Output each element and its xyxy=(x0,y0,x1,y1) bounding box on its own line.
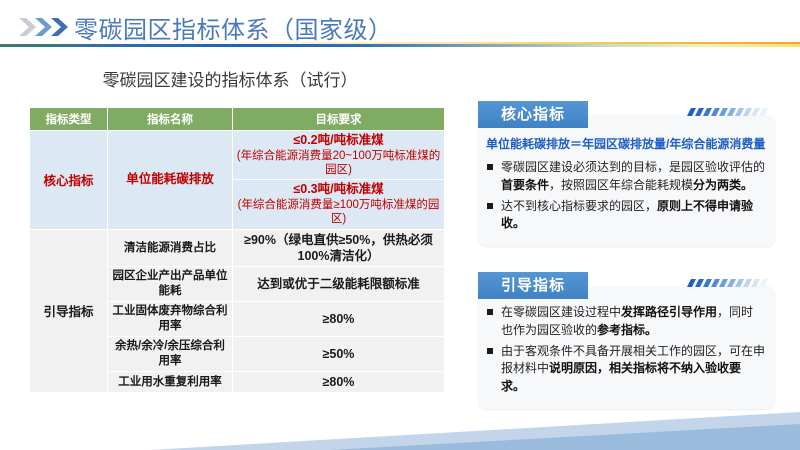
diagonal-ribbon-decoration xyxy=(0,410,800,450)
table-row: 核心指标单位能耗碳排放≤0.2吨/吨标准煤(年综合能源消费量20~100万吨标准… xyxy=(30,131,445,180)
cell-indicator-name: 工业用水重复利用率 xyxy=(108,371,233,392)
table-caption: 零碳园区建设的指标体系（试行） xyxy=(0,66,460,91)
cell-target-requirement: ≥90%（绿电直供≥50%，供热必须100%清洁化） xyxy=(233,229,445,267)
cell-target-requirement: ≥50% xyxy=(233,337,445,372)
cell-indicator-type: 引导指标 xyxy=(30,229,108,392)
header-divider xyxy=(0,40,800,48)
indicator-table: 指标类型 指标名称 目标要求 核心指标单位能耗碳排放≤0.2吨/吨标准煤(年综合… xyxy=(29,107,445,393)
cell-indicator-name: 园区企业产出产品单位能耗 xyxy=(108,267,233,302)
table-row: 引导指标清洁能源消费占比≥90%（绿电直供≥50%，供热必须100%清洁化） xyxy=(30,229,445,267)
cell-target-requirement: ≤0.2吨/吨标准煤(年综合能源消费量20~100万吨标准煤的园区) xyxy=(233,131,445,180)
bullet-item: 由于客观条件不具备开展相关工作的园区，可在申报材料中说明原因，相关指标将不纳入验… xyxy=(486,343,765,396)
double-chevron-right-icon xyxy=(19,16,73,38)
slanted-dashes-decoration xyxy=(685,104,769,113)
cell-target-requirement: ≤0.3吨/吨标准煤(年综合能源消费量≥100万吨标准煤的园区) xyxy=(233,180,445,229)
info-box-core-tab-label: 核心指标 xyxy=(478,101,588,128)
bullet-item: 达不到核心指标要求的园区，原则上不得申请验收。 xyxy=(486,198,765,234)
column-header-requirement: 目标要求 xyxy=(233,108,445,131)
cell-indicator-type: 核心指标 xyxy=(30,131,108,230)
cell-indicator-name: 单位能耗碳排放 xyxy=(108,131,233,230)
info-box-guidance-body: 在零碳园区建设过程中发挥路径引导作用，同时也作为园区验收的参考指标。由于客观条件… xyxy=(478,286,775,409)
table-body: 核心指标单位能耗碳排放≤0.2吨/吨标准煤(年综合能源消费量20~100万吨标准… xyxy=(30,131,445,393)
indicator-table-wrapper: 指标类型 指标名称 目标要求 核心指标单位能耗碳排放≤0.2吨/吨标准煤(年综合… xyxy=(29,107,444,393)
bullet-item: 零碳园区建设必须达到的目标，是园区验收评估的首要条件，按照园区年综合能耗规模分为… xyxy=(486,159,765,195)
guidance-bullet-list: 在零碳园区建设过程中发挥路径引导作用，同时也作为园区验收的参考指标。由于客观条件… xyxy=(486,304,765,396)
info-box-core-body: 单位能耗碳排放＝年园区碳排放量/年综合能源消费量 零碳园区建设必须达到的目标，是… xyxy=(478,115,775,246)
core-bullet-list: 零碳园区建设必须达到的目标，是园区验收评估的首要条件，按照园区年综合能耗规模分为… xyxy=(486,159,765,233)
column-header-name: 指标名称 xyxy=(108,108,233,131)
bullet-item: 在零碳园区建设过程中发挥路径引导作用，同时也作为园区验收的参考指标。 xyxy=(486,304,765,340)
table-header-row: 指标类型 指标名称 目标要求 xyxy=(30,108,445,131)
cell-indicator-name: 余热/余冷/余压综合利用率 xyxy=(108,337,233,372)
info-box-guidance-tab-label: 引导指标 xyxy=(478,272,588,299)
column-header-type: 指标类型 xyxy=(30,108,108,131)
cell-target-requirement: 达到或优于二级能耗限额标准 xyxy=(233,267,445,302)
divider-line-gradient xyxy=(0,44,800,47)
cell-target-requirement: ≥80% xyxy=(233,302,445,337)
cell-indicator-name: 工业固体废弃物综合利用率 xyxy=(108,302,233,337)
core-formula-text: 单位能耗碳排放＝年园区碳排放量/年综合能源消费量 xyxy=(486,135,765,152)
slanted-dashes-decoration xyxy=(685,275,769,284)
slide-canvas: 零碳园区指标体系（国家级） 零碳园区建设的指标体系（试行） 指标类型 指标名称 … xyxy=(0,0,800,450)
cell-indicator-name: 清洁能源消费占比 xyxy=(108,229,233,267)
cell-target-requirement: ≥80% xyxy=(233,371,445,392)
